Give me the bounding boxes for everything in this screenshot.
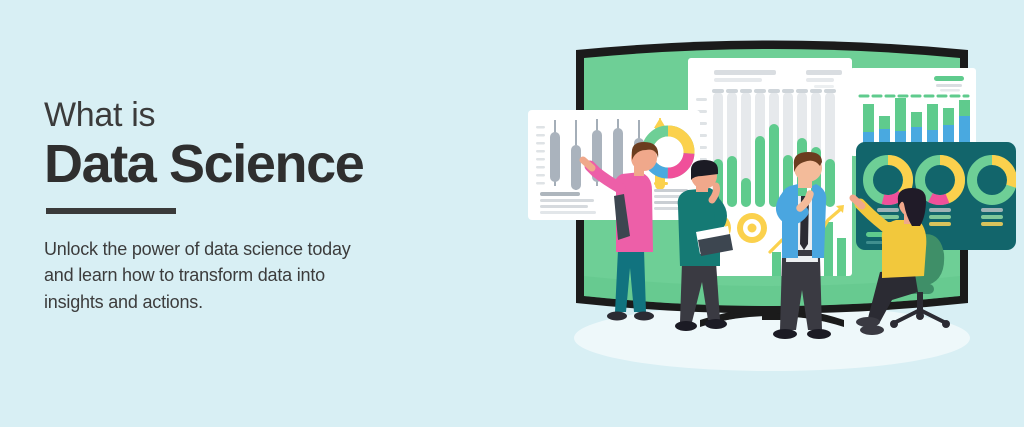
bar-segment-green — [911, 112, 922, 127]
bar — [727, 156, 737, 207]
card-legend-placeholder — [940, 89, 960, 92]
hero-banner: What is Data Science Unlock the power of… — [0, 0, 1024, 427]
woman-pink-shoe — [607, 312, 627, 321]
kicker-text: What is — [44, 98, 474, 134]
man-blue-shoe — [773, 329, 797, 339]
bar-segment-blue — [959, 116, 970, 144]
hero-text-block: What is Data Science Unlock the power of… — [44, 98, 474, 315]
yellow-ring-icon-2 — [737, 213, 767, 243]
man-blue-jacket-right — [812, 184, 826, 258]
bar — [755, 136, 765, 207]
bar-segment-green — [879, 116, 890, 129]
bar — [772, 252, 781, 276]
bar — [741, 178, 751, 207]
bar-segment-blue — [879, 129, 890, 144]
woman-yellow-shoe — [860, 325, 884, 335]
man-tablet-shoe — [675, 321, 697, 331]
bar-segment-blue — [943, 125, 954, 144]
chair-wheel — [890, 320, 898, 328]
center-card-header-placeholder — [806, 70, 842, 75]
center-card-header-placeholder — [714, 70, 776, 75]
bar — [769, 124, 779, 207]
chair-wheel — [916, 312, 924, 320]
center-card-header-placeholder — [714, 78, 762, 82]
card-legend-swatch — [934, 76, 964, 81]
bar — [825, 159, 835, 207]
bar — [837, 238, 846, 276]
bar-segment-green — [943, 108, 954, 125]
page-title: Data Science — [44, 136, 474, 193]
woman-pink-shoe — [634, 312, 654, 321]
man-tablet-shoe — [705, 319, 727, 329]
data-science-illustration — [520, 0, 1024, 427]
bar-segment-blue — [927, 130, 938, 144]
card-legend-placeholder — [936, 84, 962, 87]
bar-segment-blue — [911, 127, 922, 144]
bar-segment-green — [959, 100, 970, 116]
title-underline-rule — [46, 208, 176, 214]
bar-segment-green — [863, 104, 874, 132]
bar-segment-green — [927, 104, 938, 130]
dark-teal-donut-card — [856, 142, 1016, 250]
subcopy-text: Unlock the power of data science today a… — [44, 236, 374, 314]
center-card-header-placeholder — [814, 85, 834, 88]
bar-segment-green — [895, 98, 906, 131]
man-blue-shoe — [807, 329, 831, 339]
center-card-header-placeholder — [806, 78, 834, 82]
chair-wheel — [942, 320, 950, 328]
left-analytics-card — [528, 110, 700, 220]
bar — [824, 222, 833, 276]
illustration-container — [520, 0, 1024, 427]
